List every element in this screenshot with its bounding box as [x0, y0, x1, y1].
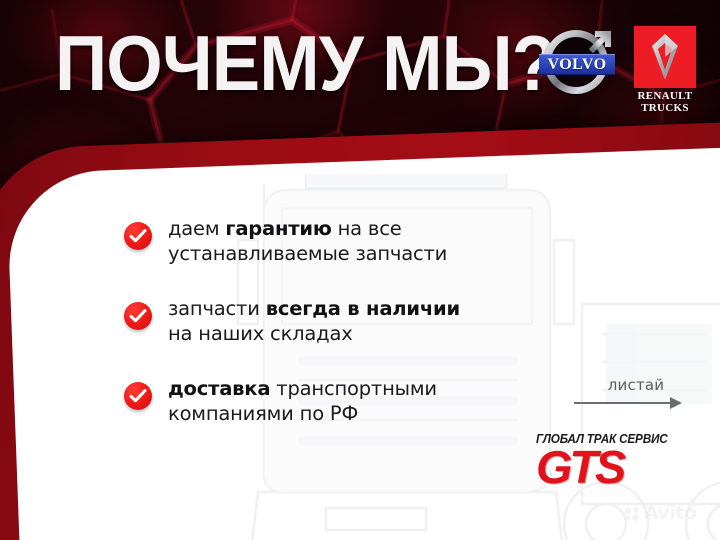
bullet-1-line1-c: на все [332, 217, 402, 240]
brand-logos: VOLVO REN [540, 26, 696, 114]
list-item-text: даем гарантию на все устанавливаемые зап… [168, 216, 447, 266]
list-item-text: запчасти всегда в наличии на наших склад… [168, 296, 460, 346]
check-circle-icon [124, 382, 152, 410]
renault-caption: RENAULT TRUCKS [634, 91, 696, 114]
renault-diamond-icon [645, 33, 685, 81]
renault-caption-line1: RENAULT [634, 91, 696, 103]
avito-wordmark: Avito [644, 504, 697, 523]
bullet-2-line1-b: всегда в наличии [266, 297, 460, 320]
promo-slide: ПОЧЕМУ МЫ? VOLVO [0, 0, 720, 540]
arrow-right-icon [574, 395, 684, 411]
avito-watermark: Avito [624, 504, 697, 523]
bullet-1-line2-a: устанавливаемые запчасти [168, 242, 447, 265]
renault-trucks-logo: RENAULT TRUCKS [634, 26, 696, 114]
gts-logo: ГЛОБАЛ ТРАК СЕРВИС GTS [536, 432, 688, 490]
check-glyph [129, 308, 147, 324]
volvo-arrow-icon [585, 28, 613, 56]
bullet-2-line1-a: запчасти [168, 297, 266, 320]
bullet-1-line1-b: гарантию [225, 217, 331, 240]
gts-wordmark: GTS [536, 444, 691, 490]
renault-caption-line2: TRUCKS [634, 103, 696, 115]
swipe-label: листай [588, 376, 684, 394]
check-glyph [129, 228, 147, 244]
list-item: запчасти всегда в наличии на наших склад… [124, 296, 544, 346]
list-item-text: доставка транспортными компаниями по РФ [168, 376, 437, 426]
list-item: доставка транспортными компаниями по РФ [124, 376, 544, 426]
check-circle-icon [124, 222, 152, 250]
volvo-logo: VOLVO [540, 26, 616, 102]
bullet-3-line1-b: доставка [168, 377, 270, 400]
check-circle-icon [124, 302, 152, 330]
bullet-1-line1-a: даем [168, 217, 225, 240]
list-item: даем гарантию на все устанавливаемые зап… [124, 216, 544, 266]
volvo-wordmark: VOLVO [547, 56, 606, 74]
bullet-3-line1-c: транспортными [270, 377, 437, 400]
page-title: ПОЧЕМУ МЫ? [55, 24, 555, 102]
renault-diamond-badge [634, 26, 696, 88]
volvo-wordmark-bar: VOLVO [539, 54, 615, 75]
bullet-2-line2-a: на наших складах [168, 322, 353, 345]
benefits-list: даем гарантию на все устанавливаемые зап… [124, 216, 544, 456]
avito-dots-icon [624, 507, 640, 521]
swipe-hint: листай [574, 376, 684, 411]
check-glyph [129, 388, 147, 404]
bullet-3-line2-a: компаниями по РФ [168, 402, 358, 425]
